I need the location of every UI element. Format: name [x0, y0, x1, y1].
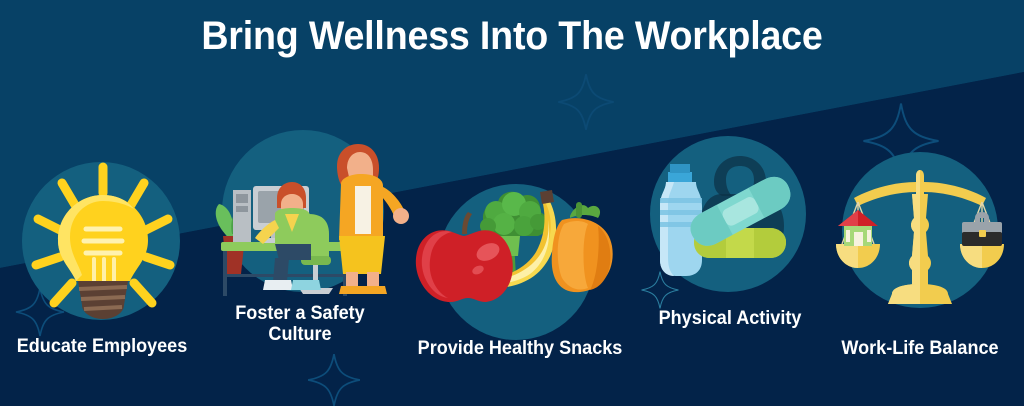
fitness-gear-icon — [648, 136, 816, 301]
item-label: Physical Activity — [635, 308, 825, 329]
healthy-food-icon — [412, 180, 627, 310]
wellness-infographic: Bring Wellness Into The Workplace — [0, 0, 1024, 406]
item-label: Foster a Safety Culture — [205, 303, 395, 345]
office-workers-icon — [205, 128, 410, 301]
item-label: Educate Employees — [5, 336, 199, 357]
item-label: Work-Life Balance — [825, 338, 1015, 359]
page-title: Bring Wellness Into The Workplace — [31, 14, 994, 59]
balance-scale-icon — [832, 160, 1008, 313]
lightbulb-icon — [20, 155, 186, 330]
item-label: Provide Healthy Snacks — [406, 338, 634, 359]
